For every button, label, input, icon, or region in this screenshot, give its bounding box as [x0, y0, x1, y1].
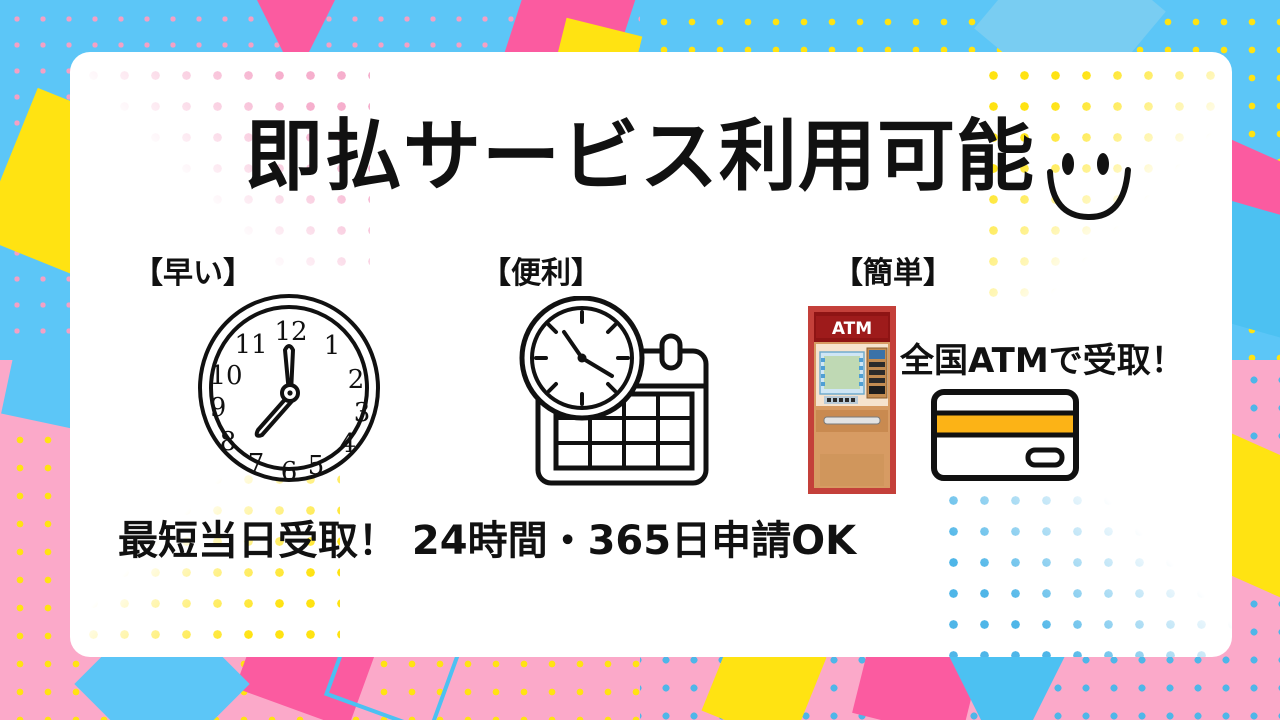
svg-text:12: 12	[274, 317, 307, 347]
svg-text:1: 1	[324, 331, 341, 361]
feature-label-convenient: 【便利】	[481, 248, 601, 292]
poster-canvas: 即払サービス利用可能 【早い】 【便利】 【簡単】 12 1 2 3 4 5	[0, 0, 1280, 720]
svg-text:11: 11	[234, 330, 267, 360]
svg-text:3: 3	[354, 398, 371, 428]
credit-card-icon	[930, 388, 1080, 487]
svg-text:5: 5	[308, 451, 325, 481]
feature-label-easy: 【簡単】	[833, 248, 953, 292]
analog-clock-icon: 12 1 2 3 4 5 6 7 8 9 10 11	[196, 288, 382, 489]
atm-machine-icon: ATM	[806, 304, 898, 501]
svg-text:9: 9	[210, 393, 227, 423]
svg-text:6: 6	[281, 457, 298, 484]
atm-screen-label: ATM	[832, 319, 872, 339]
svg-text:7: 7	[248, 449, 265, 479]
svg-text:10: 10	[209, 361, 242, 391]
calendar-clock-icon	[512, 296, 722, 497]
smiley-face-icon	[1040, 146, 1136, 224]
svg-text:8: 8	[220, 427, 237, 457]
svg-text:4: 4	[340, 429, 357, 459]
content-layer: 即払サービス利用可能 【早い】 【便利】 【簡単】 12 1 2 3 4 5	[0, 0, 1280, 720]
svg-text:2: 2	[348, 365, 365, 395]
atm-caption: 全国ATMで受取！	[900, 333, 1185, 382]
footer-text: 最短当日受取！ 24時間・365日申請OK	[118, 508, 856, 566]
feature-label-fast: 【早い】	[133, 248, 253, 292]
